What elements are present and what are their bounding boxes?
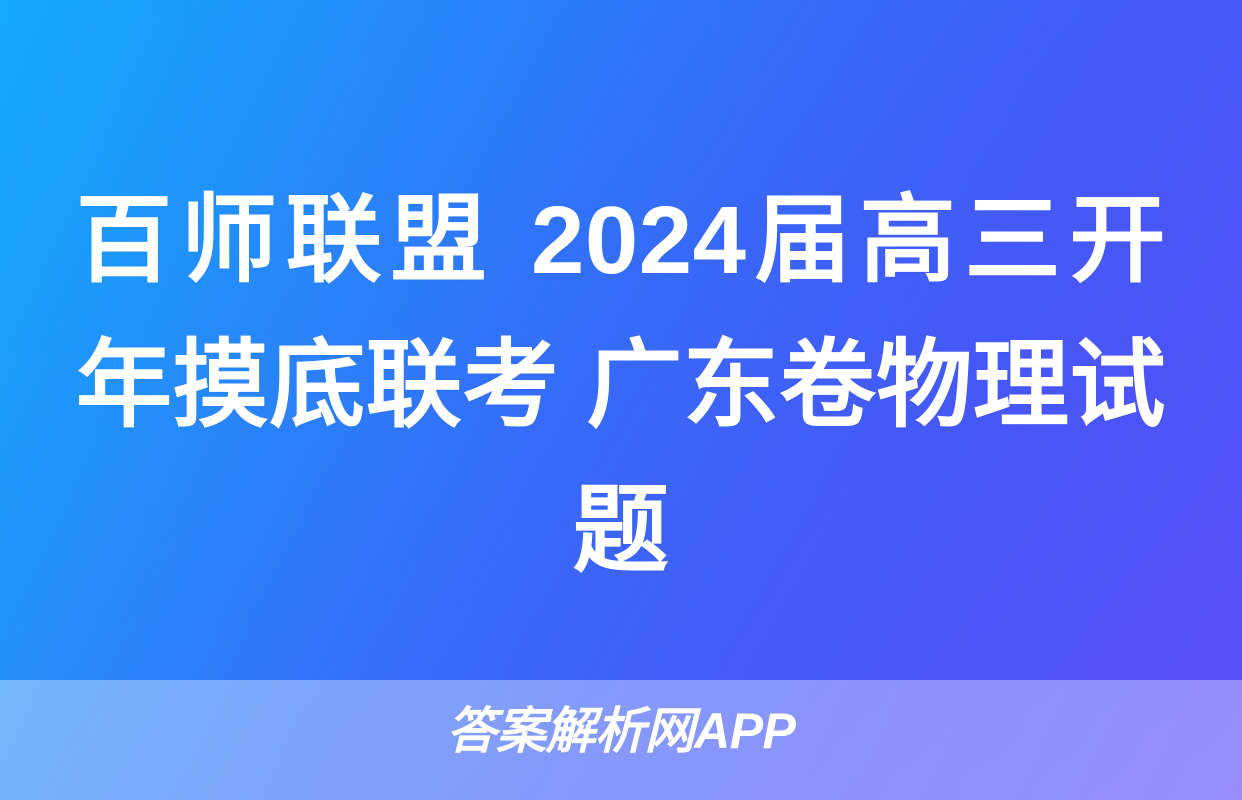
exam-cover-card: 百师联盟 2024届高三开年摸底联考 广东卷物理试题 答案解析网APP: [0, 0, 1242, 800]
title-block: 百师联盟 2024届高三开年摸底联考 广东卷物理试题: [76, 168, 1166, 603]
watermark-container: 答案解析网APP: [0, 700, 1242, 762]
watermark-label: 答案解析网APP: [447, 700, 796, 762]
page-title: 百师联盟 2024届高三开年摸底联考 广东卷物理试题: [76, 168, 1166, 603]
